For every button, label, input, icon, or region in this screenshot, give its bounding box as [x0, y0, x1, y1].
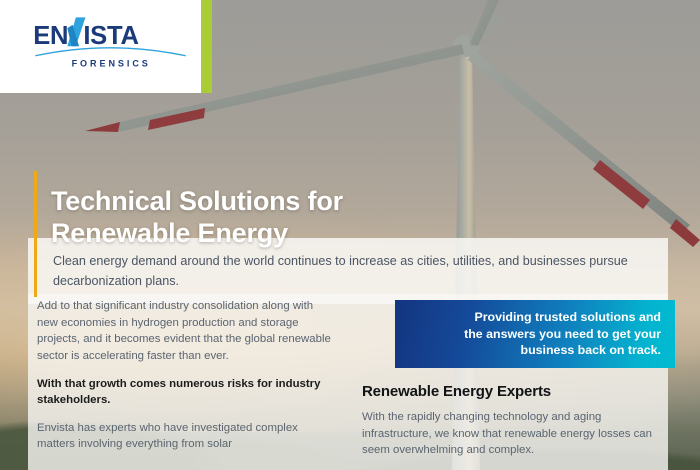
svg-text:EN: EN	[33, 22, 68, 50]
hero-accent-bar	[34, 171, 37, 267]
callout-box: Providing trusted solutions and the answ…	[395, 300, 675, 368]
left-paragraph-2-bold: With that growth comes numerous risks fo…	[37, 376, 337, 409]
page-title: Technical Solutions for Renewable Energy	[51, 186, 343, 249]
right-column: Renewable Energy Experts With the rapidl…	[362, 383, 662, 470]
left-paragraph-1: Add to that significant industry consoli…	[37, 298, 337, 365]
svg-text:FORENSICS: FORENSICS	[72, 58, 151, 68]
envista-wordmark-icon: EN ISTA FORENSICS	[30, 16, 190, 70]
brochure-page: EN ISTA FORENSICS Technical Solutions fo…	[0, 0, 700, 470]
left-column: Add to that significant industry consoli…	[37, 298, 337, 464]
right-paragraph: With the rapidly changing technology and…	[362, 409, 662, 459]
svg-text:ISTA: ISTA	[83, 22, 138, 50]
lime-accent-bar	[201, 0, 212, 93]
callout-text: Providing trusted solutions and the answ…	[454, 309, 675, 359]
section-heading-renewable-energy-experts: Renewable Energy Experts	[362, 383, 662, 400]
left-paragraph-3: Envista has experts who have investigate…	[37, 420, 337, 453]
logo[interactable]: EN ISTA FORENSICS	[30, 16, 190, 75]
hero-heading-block: Technical Solutions for Renewable Energy	[34, 168, 343, 267]
